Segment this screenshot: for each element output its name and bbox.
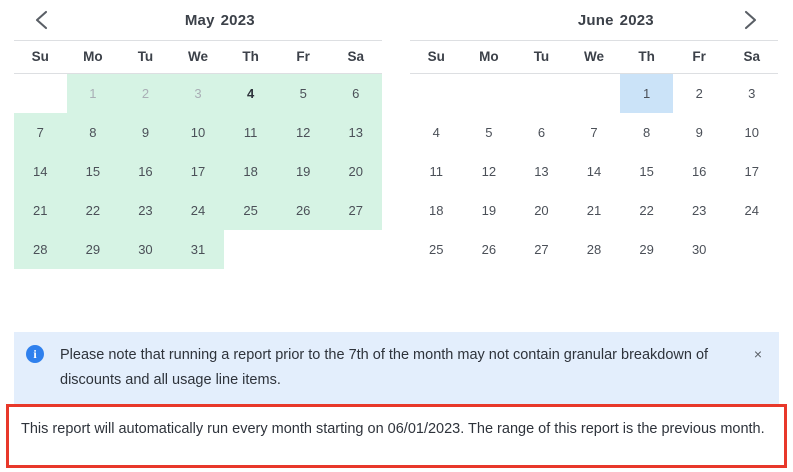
day-cell[interactable]: 18 [224, 152, 277, 191]
day-cell[interactable]: 4 [410, 113, 463, 152]
day-cell[interactable]: 24 [725, 191, 778, 230]
day-cell[interactable]: 6 [515, 113, 568, 152]
day-cell[interactable]: 11 [410, 152, 463, 191]
weekday-we: We [172, 41, 225, 73]
day-cell[interactable]: 7 [568, 113, 621, 152]
day-cell[interactable]: 24 [172, 191, 225, 230]
info-banner-message: Please note that running a report prior … [60, 343, 737, 393]
day-cell[interactable]: 26 [277, 191, 330, 230]
calendar-left: May2023 Su Mo Tu We Th Fr Sa 1 2 3 4 [0, 0, 396, 269]
weekday-mo: Mo [463, 41, 516, 73]
week-row: 18 19 20 21 22 23 24 [410, 191, 778, 230]
day-cell[interactable]: 23 [673, 191, 726, 230]
calendar-right-header: June2023 [410, 0, 778, 40]
day-cell[interactable]: 5 [463, 113, 516, 152]
day-cell[interactable]: 11 [224, 113, 277, 152]
day-cell[interactable] [277, 230, 330, 269]
day-cell[interactable] [463, 74, 516, 113]
day-cell[interactable]: 14 [14, 152, 67, 191]
day-cell[interactable]: 8 [67, 113, 120, 152]
weekday-su: Su [410, 41, 463, 73]
day-cell[interactable]: 2 [673, 74, 726, 113]
schedule-note: This report will automatically run every… [6, 404, 787, 468]
week-row: 25 26 27 28 29 30 [410, 230, 778, 269]
day-cell[interactable]: 25 [410, 230, 463, 269]
week-row: 1 2 3 4 5 6 [14, 74, 382, 113]
day-cell[interactable]: 21 [14, 191, 67, 230]
day-cell[interactable] [568, 74, 621, 113]
week-row: 7 8 9 10 11 12 13 [14, 113, 382, 152]
date-range-picker: May2023 Su Mo Tu We Th Fr Sa 1 2 3 4 [0, 0, 793, 472]
day-cell[interactable]: 14 [568, 152, 621, 191]
day-cell[interactable]: 28 [14, 230, 67, 269]
day-cell[interactable]: 20 [329, 152, 382, 191]
day-cell[interactable]: 9 [119, 113, 172, 152]
calendar-left-weeks: 1 2 3 4 5 6 7 8 9 10 11 12 13 14 [14, 74, 382, 269]
info-circle-icon: i [26, 345, 44, 363]
day-cell[interactable]: 20 [515, 191, 568, 230]
day-cell[interactable]: 23 [119, 191, 172, 230]
day-cell[interactable]: 22 [67, 191, 120, 230]
day-cell[interactable] [14, 74, 67, 113]
day-cell[interactable]: 1 [620, 74, 673, 113]
day-cell[interactable]: 3 [725, 74, 778, 113]
day-cell[interactable]: 27 [515, 230, 568, 269]
day-cell[interactable] [329, 230, 382, 269]
chevron-left-icon[interactable] [28, 6, 56, 34]
calendar-pair: May2023 Su Mo Tu We Th Fr Sa 1 2 3 4 [0, 0, 793, 269]
day-cell[interactable]: 10 [172, 113, 225, 152]
day-cell[interactable]: 13 [329, 113, 382, 152]
day-cell[interactable]: 29 [67, 230, 120, 269]
day-cell[interactable] [410, 74, 463, 113]
day-cell[interactable]: 16 [119, 152, 172, 191]
day-cell[interactable]: 1 [67, 74, 120, 113]
schedule-note-message: This report will automatically run every… [21, 421, 765, 437]
day-cell[interactable]: 17 [172, 152, 225, 191]
day-cell[interactable]: 31 [172, 230, 225, 269]
weekday-fr: Fr [277, 41, 330, 73]
day-cell[interactable]: 29 [620, 230, 673, 269]
day-cell[interactable]: 26 [463, 230, 516, 269]
week-row: 11 12 13 14 15 16 17 [410, 152, 778, 191]
week-row: 21 22 23 24 25 26 27 [14, 191, 382, 230]
calendar-right-title: June2023 [534, 0, 654, 46]
weekday-tu: Tu [119, 41, 172, 73]
calendar-left-year: 2023 [221, 12, 255, 29]
weekday-tu: Tu [515, 41, 568, 73]
weekday-sa: Sa [725, 41, 778, 73]
weekday-su: Su [14, 41, 67, 73]
day-cell[interactable]: 12 [463, 152, 516, 191]
day-cell[interactable]: 30 [119, 230, 172, 269]
info-banner: i Please note that running a report prio… [14, 332, 779, 405]
day-cell[interactable]: 28 [568, 230, 621, 269]
day-cell[interactable]: 13 [515, 152, 568, 191]
weekday-th: Th [620, 41, 673, 73]
weekday-we: We [568, 41, 621, 73]
calendar-right-year: 2023 [620, 12, 654, 29]
week-row: 28 29 30 31 [14, 230, 382, 269]
day-cell[interactable]: 16 [673, 152, 726, 191]
day-cell[interactable]: 12 [277, 113, 330, 152]
day-cell[interactable]: 15 [67, 152, 120, 191]
day-cell[interactable]: 18 [410, 191, 463, 230]
day-cell[interactable] [515, 74, 568, 113]
day-cell[interactable]: 4 [224, 74, 277, 113]
calendar-right: June2023 Su Mo Tu We Th Fr Sa [396, 0, 792, 269]
week-row: 4 5 6 7 8 9 10 [410, 113, 778, 152]
day-cell[interactable]: 19 [277, 152, 330, 191]
calendar-right-month: June [578, 12, 614, 29]
day-cell[interactable]: 21 [568, 191, 621, 230]
day-cell[interactable]: 17 [725, 152, 778, 191]
calendar-left-month: May [185, 12, 215, 29]
chevron-right-icon[interactable] [736, 6, 764, 34]
day-cell[interactable] [725, 230, 778, 269]
week-row: 14 15 16 17 18 19 20 [14, 152, 382, 191]
day-cell[interactable]: 5 [277, 74, 330, 113]
day-cell[interactable]: 7 [14, 113, 67, 152]
weekday-th: Th [224, 41, 277, 73]
day-cell[interactable]: 27 [329, 191, 382, 230]
close-icon[interactable]: × [749, 345, 767, 363]
day-cell[interactable]: 2 [119, 74, 172, 113]
day-cell[interactable]: 30 [673, 230, 726, 269]
day-cell[interactable]: 9 [673, 113, 726, 152]
day-cell[interactable]: 22 [620, 191, 673, 230]
day-cell[interactable]: 15 [620, 152, 673, 191]
calendar-right-weeks: 1 2 3 4 5 6 7 8 9 10 11 12 13 14 [410, 74, 778, 269]
week-row: 1 2 3 [410, 74, 778, 113]
day-cell[interactable]: 10 [725, 113, 778, 152]
calendar-left-header: May2023 [14, 0, 382, 40]
weekday-mo: Mo [67, 41, 120, 73]
day-cell[interactable] [224, 230, 277, 269]
weekday-fr: Fr [673, 41, 726, 73]
calendar-left-title: May2023 [141, 0, 255, 46]
day-cell[interactable]: 3 [172, 74, 225, 113]
day-cell[interactable]: 25 [224, 191, 277, 230]
weekday-sa: Sa [329, 41, 382, 73]
day-cell[interactable]: 6 [329, 74, 382, 113]
day-cell[interactable]: 8 [620, 113, 673, 152]
day-cell[interactable]: 19 [463, 191, 516, 230]
